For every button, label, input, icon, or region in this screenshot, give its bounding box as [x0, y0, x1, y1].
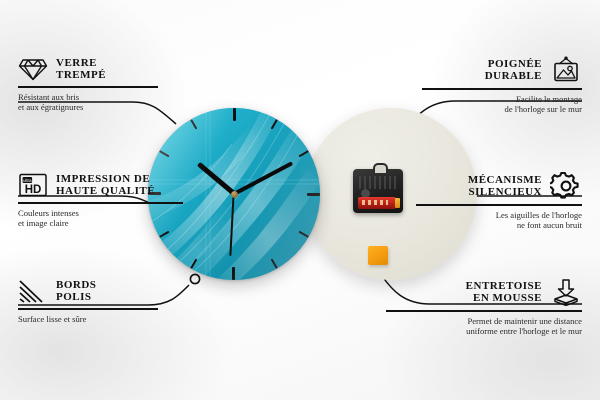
feature-desc-line2: et image claire [18, 218, 183, 229]
feature-desc-line1: Couleurs intenses [18, 208, 183, 219]
feature-divider [416, 204, 582, 206]
ultra-hd-icon-main-label: HD [25, 184, 42, 196]
feature-title-line1: BORDS [56, 279, 96, 292]
feature-divider [18, 86, 158, 88]
feature-desc-line1: Surface lisse et sûre [18, 314, 158, 325]
gear-icon [550, 172, 582, 200]
battery-tip [395, 198, 400, 208]
feature-divider [386, 310, 582, 312]
feature-desc-line2: de l'horloge sur le mur [422, 104, 582, 115]
feature-bords-polis: BORDS POLIS Surface lisse et sûre [18, 278, 158, 324]
feature-impression-haute-qualite: ultra HD IMPRESSION DE HAUTE QUALITÉ Cou… [18, 172, 183, 229]
feature-desc-line1: Facilite le montage [422, 94, 582, 105]
feature-title-line1: ENTRETOISE [466, 280, 542, 293]
feature-desc-line1: Résistant aux bris [18, 92, 158, 103]
feature-desc-line1: Permet de maintenir une distance [386, 316, 582, 327]
feature-title-line2: HAUTE QUALITÉ [56, 185, 155, 198]
battery [358, 197, 396, 209]
feature-desc-line2: uniforme entre l'horloge et le mur [386, 326, 582, 337]
feature-desc-line1: Les aiguilles de l'horloge [416, 210, 582, 221]
feature-title-line2: POLIS [56, 291, 96, 304]
feature-verre-trempe: VERRE TREMPÉ Résistant aux bris et aux é… [18, 56, 158, 113]
clock-mechanism [353, 169, 403, 213]
feature-mecanisme-silencieux: MÉCANISME SILENCIEUX Les aiguilles de l'… [416, 172, 582, 231]
diamond-icon [18, 56, 48, 82]
polished-edges-icon [18, 278, 48, 304]
feature-title-line2: DURABLE [485, 70, 542, 83]
feature-title-line2: EN MOUSSE [466, 292, 542, 305]
feature-desc-line2: ne font aucun bruit [416, 220, 582, 231]
ultra-hd-icon-top-label: ultra [23, 178, 32, 183]
feature-title-line1: IMPRESSION DE [56, 173, 155, 186]
foam-spacer [368, 246, 388, 265]
foam-spacer-icon [550, 278, 582, 306]
feature-title-line2: SILENCIEUX [468, 186, 542, 199]
feature-divider [18, 308, 158, 310]
feature-divider [18, 202, 183, 204]
feature-poignee-durable: POIGNÉE DURABLE Facilite le montage de l… [422, 56, 582, 115]
ultra-hd-icon: ultra HD [18, 172, 48, 198]
mechanism-detail [359, 176, 397, 189]
hanging-frame-icon [550, 56, 582, 84]
infographic-canvas: VERRE TREMPÉ Résistant aux bris et aux é… [0, 0, 600, 400]
feature-title-line1: VERRE [56, 57, 106, 70]
feature-title-line1: MÉCANISME [468, 174, 542, 187]
feature-title-line1: POIGNÉE [485, 58, 542, 71]
feature-divider [422, 88, 582, 90]
feature-desc-line2: et aux égratignures [18, 102, 158, 113]
mechanism-hanger [373, 163, 388, 173]
feature-entretoise-en-mousse: ENTRETOISE EN MOUSSE Permet de maintenir… [386, 278, 582, 337]
feature-title-line2: TREMPÉ [56, 69, 106, 82]
battery-label [362, 200, 388, 205]
